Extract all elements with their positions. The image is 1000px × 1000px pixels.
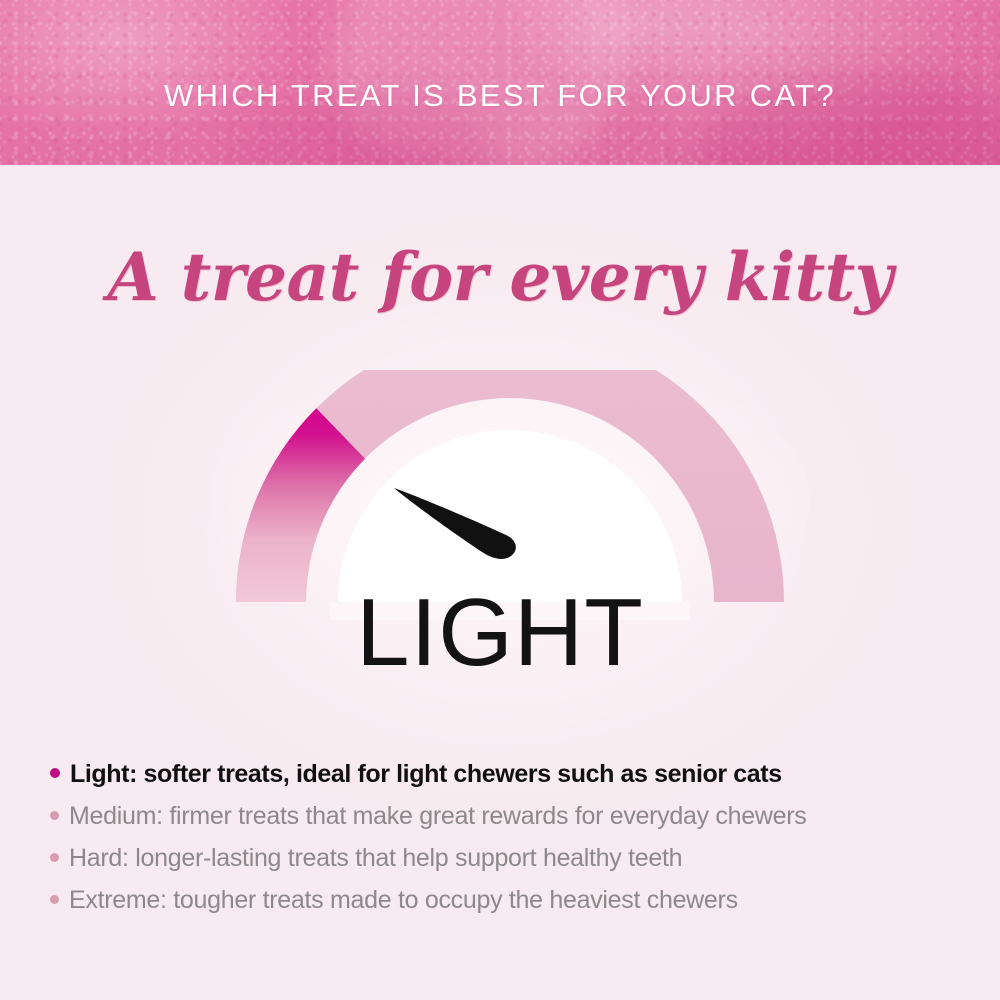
list-item-label: Hard: longer-lasting treats that help su… [69, 844, 682, 873]
bullet-icon [50, 811, 59, 820]
list-item-light[interactable]: Light: softer treats, ideal for light ch… [50, 760, 960, 789]
bullet-icon [50, 895, 59, 904]
gauge-level-label: LIGHT [0, 585, 1000, 681]
list-item-hard[interactable]: Hard: longer-lasting treats that help su… [50, 844, 960, 873]
infographic-page: WHICH TREAT IS BEST FOR YOUR CAT? A trea… [0, 0, 1000, 1000]
list-item-label: Medium: firmer treats that make great re… [69, 802, 806, 831]
page-title: A treat for every kitty [0, 238, 1000, 316]
list-item-label: Extreme: tougher treats made to occupy t… [69, 886, 738, 915]
header-title: WHICH TREAT IS BEST FOR YOUR CAT? [0, 0, 1000, 165]
list-item-label: Light: softer treats, ideal for light ch… [70, 760, 782, 789]
treat-level-list: Light: softer treats, ideal for light ch… [50, 760, 960, 928]
bullet-icon [50, 853, 59, 862]
header-band: WHICH TREAT IS BEST FOR YOUR CAT? [0, 0, 1000, 165]
bullet-icon [50, 768, 60, 778]
list-item-extreme[interactable]: Extreme: tougher treats made to occupy t… [50, 886, 960, 915]
list-item-medium[interactable]: Medium: firmer treats that make great re… [50, 802, 960, 831]
